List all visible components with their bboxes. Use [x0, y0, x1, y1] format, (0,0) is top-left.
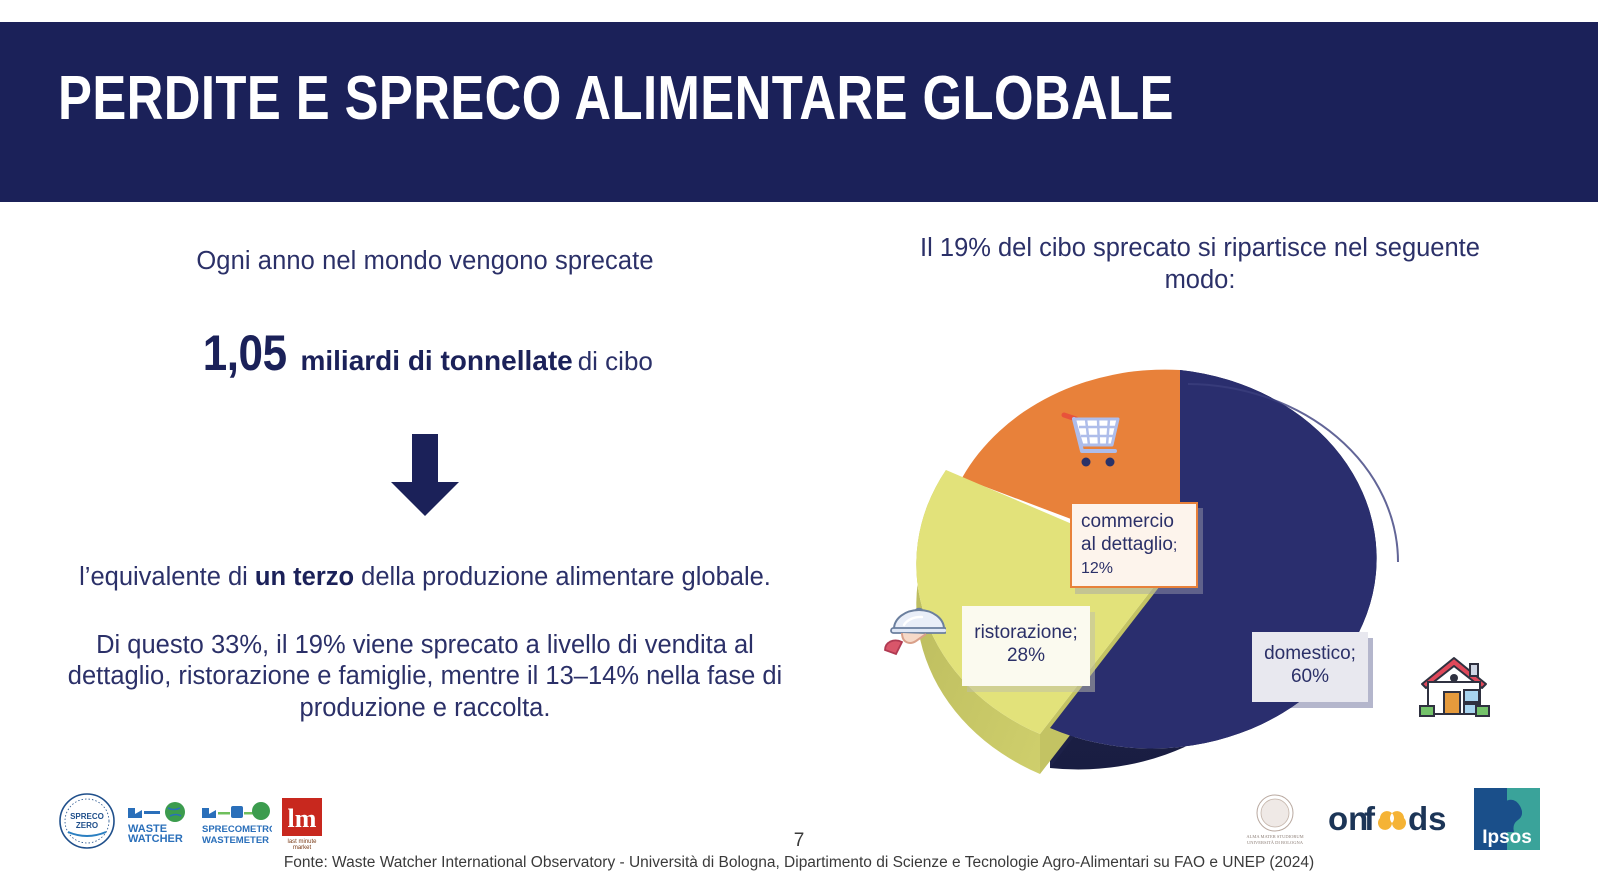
stat-tail: di cibo: [578, 346, 653, 376]
pie-label-commercio: commercio al dettaglio; 12%: [1070, 502, 1198, 588]
equivalence-text: l’equivalente di un terzo della produzio…: [60, 562, 790, 594]
intro-text: Ogni anno nel mondo vengono sprecate: [60, 247, 790, 276]
stat-number: 1,05: [203, 324, 287, 382]
arrow-container: [60, 428, 790, 520]
pie-chart: commercio al dettaglio; 12% ristorazione…: [840, 310, 1560, 790]
svg-text:ZERO: ZERO: [76, 821, 98, 830]
shopping-cart-icon: [1058, 405, 1128, 471]
source-citation: Fonte: Waste Watcher International Obser…: [0, 854, 1598, 872]
serving-dish-icon: [880, 592, 946, 658]
equivalence-pre: l’equivalente di: [79, 563, 255, 591]
house-icon: [1418, 650, 1490, 722]
page-title: PERDITE E SPRECO ALIMENTARE GLOBALE: [58, 68, 1174, 130]
pie-label-ristorazione-text: ristorazione;: [971, 622, 1081, 645]
pie-label-domestico-value: 60%: [1261, 666, 1359, 689]
detail-text: Di questo 33%, il 19% viene sprecato a l…: [60, 630, 790, 725]
equivalence-post: della produzione alimentare globale.: [354, 563, 771, 591]
pie-label-domestico: domestico; 60%: [1252, 632, 1368, 702]
pie-label-commercio-text: commercio al dettaglio: [1081, 511, 1174, 555]
headline-statistic: 1,05miliardi di tonnellatedi cibo: [60, 324, 790, 382]
pie-label-domestico-text: domestico;: [1261, 643, 1359, 666]
svg-text:SPRECO: SPRECO: [70, 812, 104, 821]
pie-label-ristorazione: ristorazione; 28%: [962, 606, 1090, 686]
left-content-column: Ogni anno nel mondo vengono sprecate 1,0…: [60, 225, 790, 724]
stat-unit: miliardi di tonnellate: [300, 345, 572, 376]
chart-heading: Il 19% del cibo sprecato si ripartisce n…: [840, 233, 1560, 297]
pie-label-ristorazione-value: 28%: [971, 645, 1081, 668]
equivalence-emphasis: un terzo: [255, 563, 354, 591]
chart-column: Il 19% del cibo sprecato si ripartisce n…: [840, 225, 1560, 785]
page-number: 7: [0, 830, 1598, 852]
down-arrow-icon: [379, 428, 471, 520]
svg-text:lm: lm: [288, 804, 317, 833]
